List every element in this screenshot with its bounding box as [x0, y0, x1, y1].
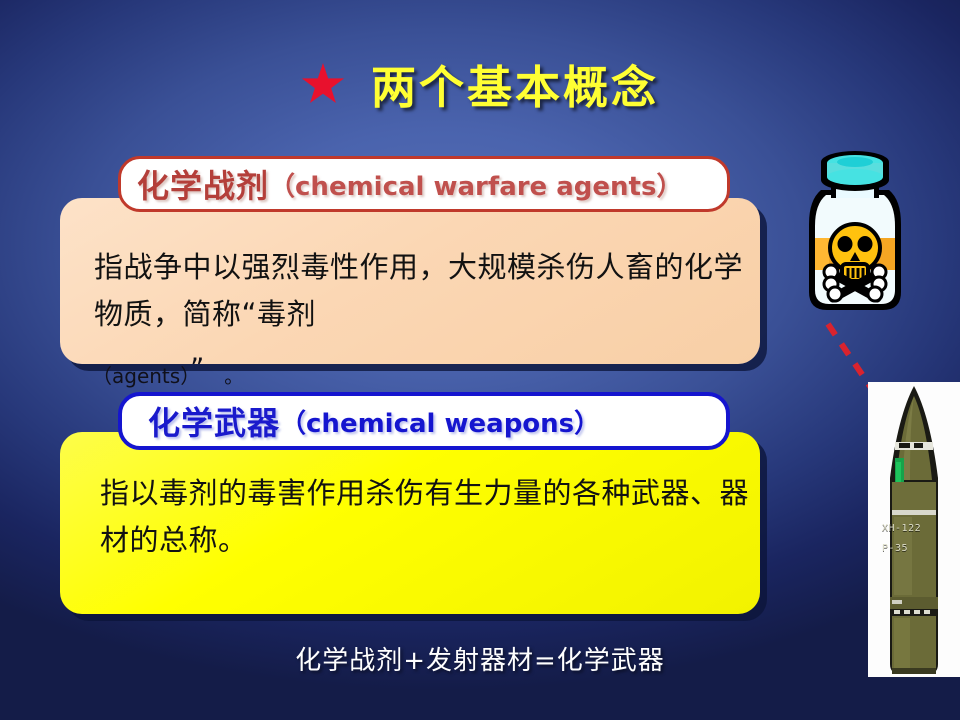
slide-title-row: 两个基本概念: [0, 50, 960, 116]
concept-header-agents: 化学战剂 （chemical warfare agents）: [118, 156, 730, 212]
concept-header-cn-weapons: 化学武器: [148, 398, 280, 444]
overflow-close-quote: ”: [190, 353, 206, 384]
red-star-icon: [301, 63, 345, 107]
concept-body-text-agents: 指战争中以强烈毒性作用，大规模杀伤人畜的化学物质，简称“毒剂: [94, 244, 744, 338]
concept-body-overflow-agents: （agents）”。: [92, 356, 243, 390]
overflow-period: 。: [224, 366, 243, 388]
bottom-caption: 化学战剂+发射器材=化学武器: [0, 640, 960, 677]
concept-body-panel-weapons: 指以毒剂的毒害作用杀伤有生力量的各种武器、器材的总称。: [60, 432, 760, 614]
shell-marking-primary: XH-122: [882, 523, 921, 534]
concept-header-weapons: 化学武器 （chemical weapons）: [118, 392, 730, 450]
poison-bottle-icon: [795, 142, 915, 317]
shell-marking-secondary: P-35: [882, 543, 908, 554]
slide-canvas: 两个基本概念 指战争中以强烈毒性作用，大规模杀伤人畜的化学物质，简称“毒剂 （a…: [0, 0, 960, 720]
concept-body-text-weapons: 指以毒剂的毒害作用杀伤有生力量的各种武器、器材的总称。: [100, 470, 750, 564]
concept-header-en-weapons: （chemical weapons）: [280, 403, 600, 440]
overflow-en-term: （agents）: [92, 364, 190, 388]
concept-body-panel-agents: 指战争中以强烈毒性作用，大规模杀伤人畜的化学物质，简称“毒剂: [60, 198, 760, 364]
concept-header-cn-agents: 化学战剂: [137, 161, 269, 207]
concept-header-en-agents: （chemical warfare agents）: [269, 166, 682, 203]
chemical-shell-photo: XH-122 P-35: [868, 382, 960, 677]
page-title: 两个基本概念: [371, 51, 659, 116]
